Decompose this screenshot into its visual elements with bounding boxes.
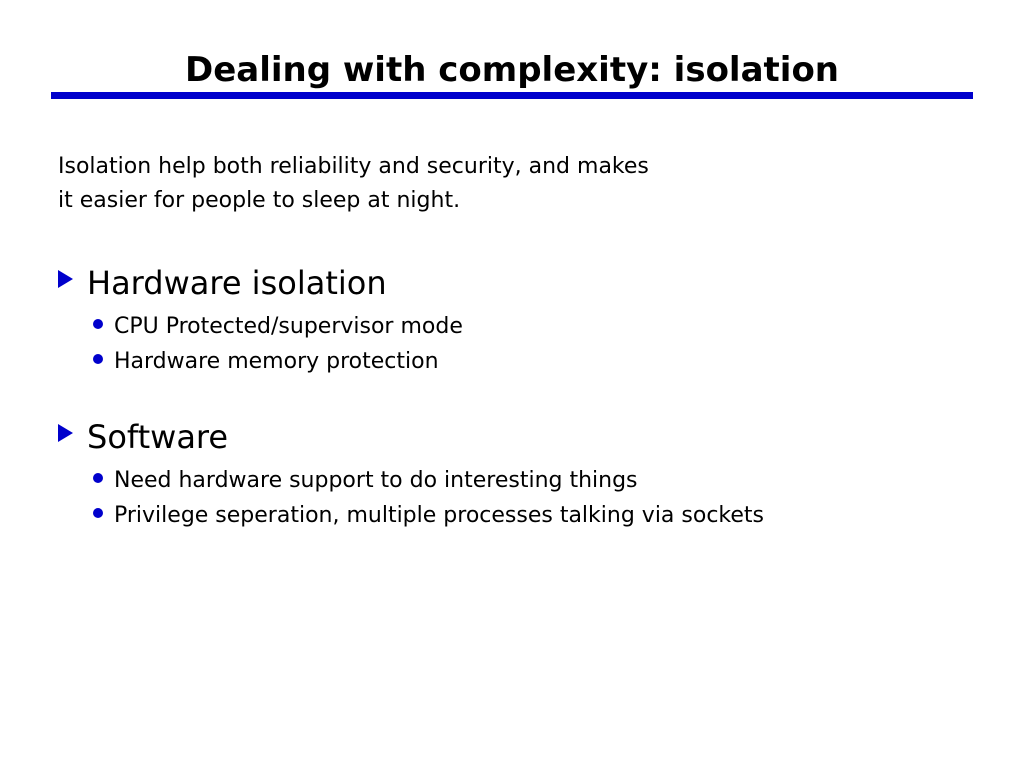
list-item: CPU Protected/supervisor mode [93, 310, 988, 343]
intro-line-2: it easier for people to sleep at night. [58, 184, 988, 218]
list-item: Need hardware support to do interesting … [93, 464, 988, 497]
list-item-label: Hardware memory protection [114, 345, 439, 378]
list-item-label: Need hardware support to do interesting … [114, 464, 638, 497]
list-item-label: CPU Protected/supervisor mode [114, 310, 463, 343]
section-heading-label: Software [87, 418, 228, 456]
slide-body: Isolation help both reliability and secu… [58, 150, 988, 534]
list-item: Privilege seperation, multiple processes… [93, 499, 988, 532]
list-item: Hardware memory protection [93, 345, 988, 378]
section-hardware-isolation: Hardware isolation CPU Protected/supervi… [58, 264, 988, 378]
sub-bullet-list: CPU Protected/supervisor mode Hardware m… [58, 310, 988, 378]
dot-bullet-icon [93, 354, 103, 364]
section-heading-row: Hardware isolation [58, 264, 988, 302]
list-item-label: Privilege seperation, multiple processes… [114, 499, 764, 532]
section-software: Software Need hardware support to do int… [58, 418, 988, 532]
page-title: Dealing with complexity: isolation [51, 50, 973, 90]
dot-bullet-icon [93, 319, 103, 329]
section-heading-label: Hardware isolation [87, 264, 387, 302]
dot-bullet-icon [93, 508, 103, 518]
triangle-bullet-icon [58, 424, 73, 442]
section-heading-row: Software [58, 418, 988, 456]
title-underline-rule [51, 92, 973, 99]
intro-line-1: Isolation help both reliability and secu… [58, 150, 988, 184]
triangle-bullet-icon [58, 270, 73, 288]
sub-bullet-list: Need hardware support to do interesting … [58, 464, 988, 532]
intro-paragraph: Isolation help both reliability and secu… [58, 150, 988, 218]
dot-bullet-icon [93, 473, 103, 483]
slide: Dealing with complexity: isolation Isola… [0, 0, 1024, 768]
